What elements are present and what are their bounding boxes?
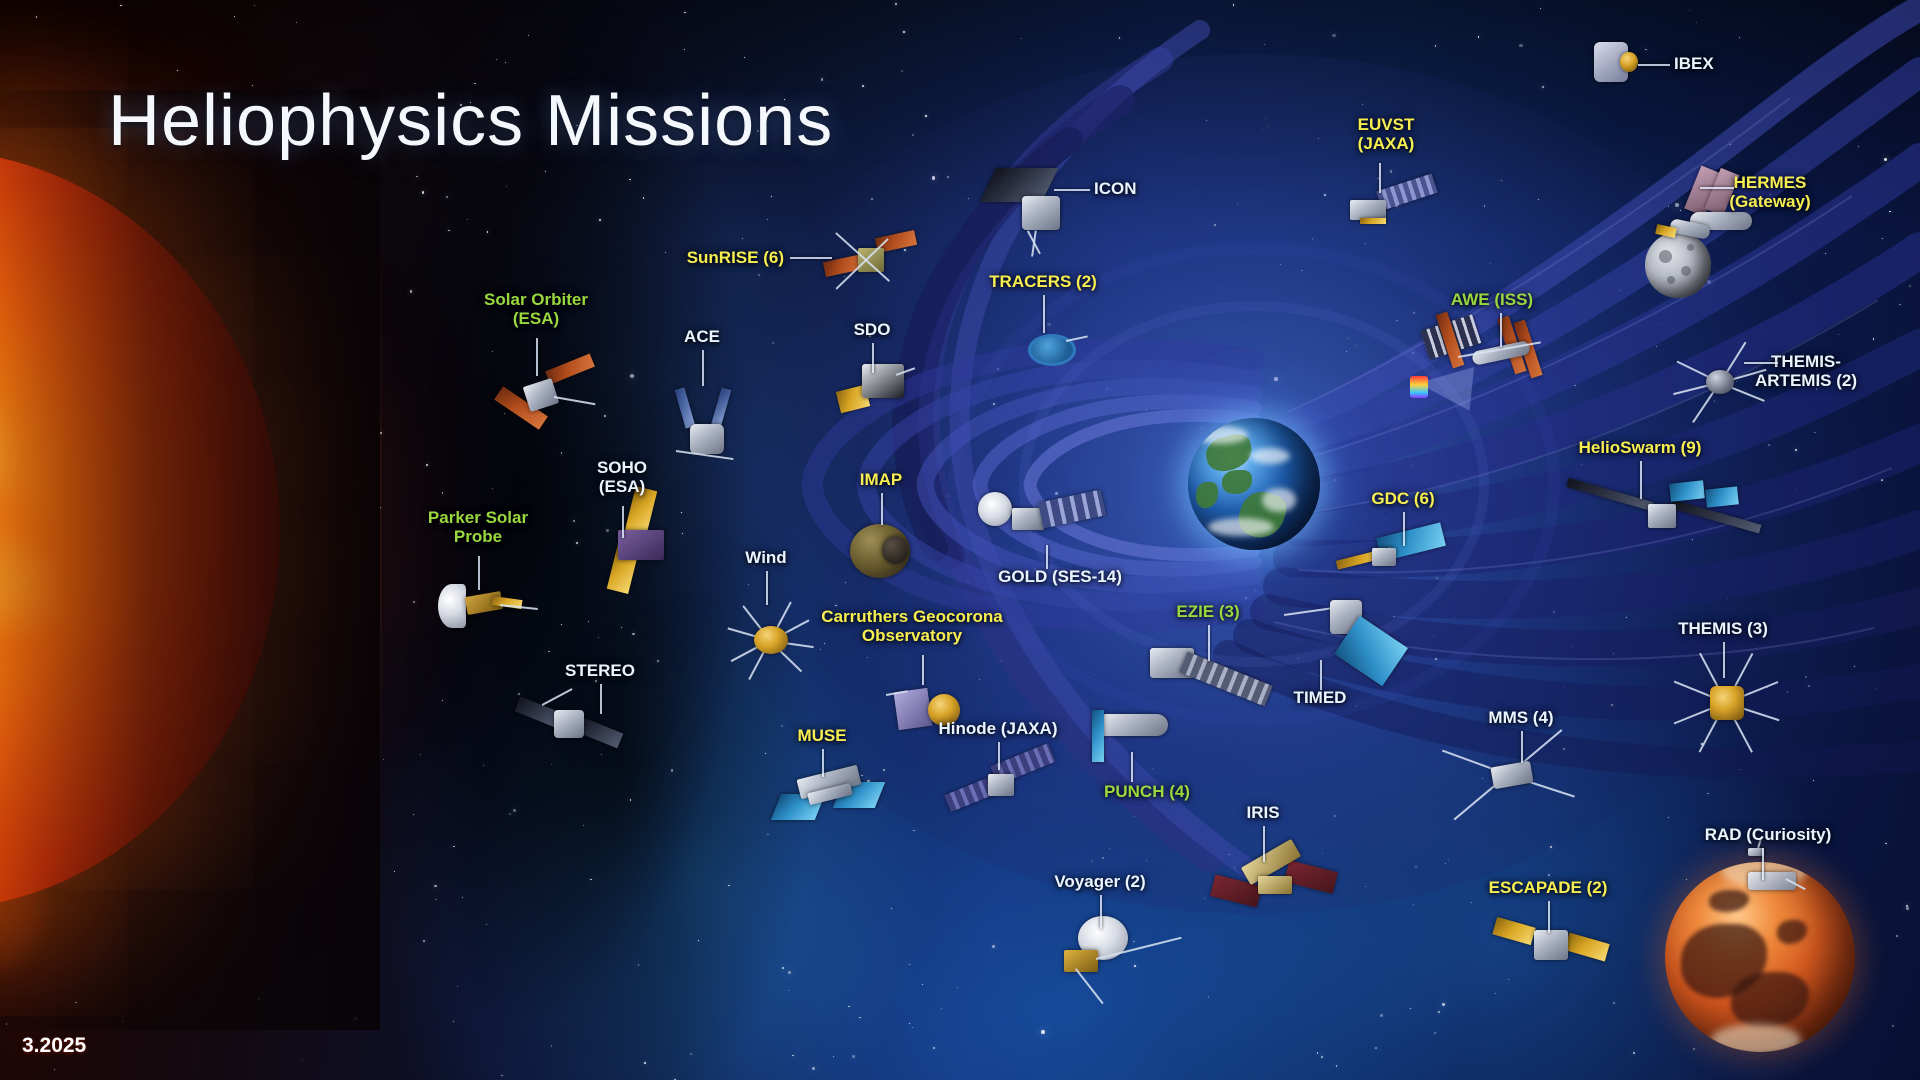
star xyxy=(1729,144,1731,146)
earth-cloud xyxy=(1250,448,1290,464)
star xyxy=(921,542,922,543)
star xyxy=(621,627,622,628)
mission-label-gdc: GDC (6) xyxy=(1371,489,1434,508)
mission-label-gold: GOLD (SES-14) xyxy=(998,567,1122,586)
star xyxy=(1656,346,1657,347)
star xyxy=(1689,10,1690,11)
star xyxy=(833,1056,834,1057)
mission-label-ace: ACE xyxy=(684,327,720,346)
star xyxy=(681,512,682,513)
spacecraft-tracers xyxy=(1020,326,1088,370)
star xyxy=(788,971,791,974)
star xyxy=(903,31,905,33)
spacecraft-euvst xyxy=(1344,180,1438,232)
star xyxy=(1034,484,1035,485)
star xyxy=(434,885,437,888)
star xyxy=(1707,793,1709,795)
star xyxy=(1787,691,1789,693)
star xyxy=(1519,44,1523,48)
star xyxy=(122,1021,123,1022)
star xyxy=(1540,8,1541,9)
star xyxy=(413,814,414,815)
star xyxy=(782,967,784,969)
star xyxy=(1356,705,1358,707)
mission-label-themis-artemis: THEMIS- ARTEMIS (2) xyxy=(1755,352,1857,390)
star xyxy=(604,415,606,417)
star xyxy=(1548,874,1550,876)
star xyxy=(1620,290,1621,291)
star xyxy=(1380,1014,1383,1017)
star xyxy=(1413,312,1415,314)
star xyxy=(912,1027,913,1028)
star xyxy=(1362,104,1363,105)
earth xyxy=(1188,418,1320,550)
star xyxy=(632,633,635,636)
star xyxy=(1626,617,1627,618)
star xyxy=(1896,935,1898,937)
star xyxy=(467,219,468,220)
mission-label-mms: MMS (4) xyxy=(1488,708,1553,727)
star xyxy=(1214,224,1216,226)
star xyxy=(772,342,774,344)
star xyxy=(1885,843,1887,845)
star xyxy=(420,754,421,755)
mission-label-parker-solar-probe: Parker Solar Probe xyxy=(428,508,528,546)
leader-line-escapade xyxy=(1548,901,1550,933)
leader-line-themis-artemis xyxy=(1744,362,1778,364)
star xyxy=(1384,518,1386,520)
star xyxy=(354,1017,357,1020)
star xyxy=(1490,263,1492,265)
star xyxy=(788,990,789,991)
star xyxy=(1355,345,1357,347)
star xyxy=(1332,34,1336,38)
star xyxy=(1390,170,1393,173)
star xyxy=(630,799,632,801)
star xyxy=(909,1023,910,1024)
star xyxy=(422,191,425,194)
leader-line-tracers xyxy=(1043,295,1045,333)
star xyxy=(728,885,730,887)
star xyxy=(924,356,925,357)
spacecraft-escapade xyxy=(1494,910,1610,982)
leader-line-awe xyxy=(1500,313,1502,347)
star xyxy=(1435,658,1437,660)
star xyxy=(912,134,914,136)
leader-line-themis xyxy=(1723,642,1725,678)
mission-label-imap: IMAP xyxy=(860,470,903,489)
star xyxy=(758,274,760,276)
star xyxy=(416,176,418,178)
mission-label-punch: PUNCH (4) xyxy=(1104,782,1190,801)
star xyxy=(1739,769,1741,771)
star xyxy=(1415,866,1417,868)
star xyxy=(1795,489,1796,490)
star xyxy=(1317,1052,1319,1054)
star xyxy=(1838,334,1839,335)
star xyxy=(1727,598,1728,599)
moon-crater xyxy=(1667,276,1675,284)
star xyxy=(506,186,507,187)
star xyxy=(891,908,892,909)
star xyxy=(1336,1065,1338,1067)
earth-landmass xyxy=(1196,482,1218,508)
star xyxy=(1041,1030,1045,1034)
star xyxy=(1346,351,1347,352)
spacecraft-iris xyxy=(1212,842,1340,920)
star xyxy=(1265,118,1266,119)
star xyxy=(744,57,745,58)
spacecraft-wind xyxy=(726,596,814,684)
star xyxy=(1442,1003,1445,1006)
star xyxy=(486,924,487,925)
star xyxy=(1501,180,1503,182)
star xyxy=(690,1053,692,1055)
star xyxy=(767,834,768,835)
star xyxy=(595,680,597,682)
star xyxy=(1365,886,1367,888)
star xyxy=(1906,907,1910,911)
star xyxy=(997,368,998,369)
star xyxy=(657,660,659,662)
star xyxy=(1091,860,1093,862)
star xyxy=(895,3,897,5)
star xyxy=(1495,993,1496,994)
mission-label-iris: IRIS xyxy=(1246,803,1279,822)
star xyxy=(1858,146,1859,147)
star xyxy=(698,940,699,941)
spacecraft-soho xyxy=(596,488,680,592)
star xyxy=(36,16,37,17)
star xyxy=(1102,857,1104,859)
star xyxy=(1119,37,1120,38)
star xyxy=(792,1055,793,1056)
star xyxy=(1237,204,1238,205)
leader-line-sdo xyxy=(872,343,874,373)
star xyxy=(573,520,575,522)
star xyxy=(812,1067,816,1071)
star xyxy=(369,231,370,232)
star xyxy=(1204,898,1205,899)
star xyxy=(1668,817,1669,818)
star xyxy=(968,198,969,199)
star xyxy=(925,115,927,117)
star xyxy=(1899,304,1901,306)
star xyxy=(1264,44,1266,46)
star xyxy=(1613,1002,1615,1004)
leader-line-gdc xyxy=(1403,512,1405,546)
star xyxy=(1412,352,1414,354)
leader-line-hermes xyxy=(1700,187,1734,189)
earth-cloud xyxy=(1194,426,1248,444)
star xyxy=(1321,1056,1323,1058)
star xyxy=(448,230,450,232)
star xyxy=(1223,563,1224,564)
star xyxy=(947,176,949,178)
star xyxy=(1347,338,1348,339)
spacecraft-imap xyxy=(846,518,916,584)
star xyxy=(258,998,260,1000)
star xyxy=(1693,1048,1695,1050)
star xyxy=(1301,270,1303,272)
spacecraft-solar-orbiter xyxy=(492,352,602,438)
star xyxy=(742,238,743,239)
star xyxy=(1553,611,1555,613)
star xyxy=(629,179,631,181)
star xyxy=(234,16,235,17)
spacecraft-gold-ses14 xyxy=(978,486,1106,558)
star xyxy=(1805,676,1807,678)
star xyxy=(548,651,550,653)
star xyxy=(513,809,516,812)
mission-label-solar-orbiter: Solar Orbiter (ESA) xyxy=(484,290,588,328)
spacecraft-sunrise xyxy=(824,218,920,304)
star xyxy=(483,765,484,766)
mission-label-stereo: STEREO xyxy=(565,661,635,680)
star xyxy=(852,1055,855,1058)
star xyxy=(1884,158,1887,161)
star xyxy=(913,830,915,832)
star xyxy=(551,1045,553,1047)
star xyxy=(1413,904,1414,905)
star xyxy=(1542,86,1544,88)
star xyxy=(423,940,425,942)
spacecraft-parker-solar-probe xyxy=(438,572,542,642)
mission-label-rad: RAD (Curiosity) xyxy=(1705,825,1832,844)
mission-label-hermes: HERMES (Gateway) xyxy=(1729,173,1810,211)
star xyxy=(1613,653,1614,654)
star xyxy=(1177,380,1178,381)
star xyxy=(410,290,413,293)
star xyxy=(1658,324,1660,326)
mission-label-muse: MUSE xyxy=(797,726,846,745)
star xyxy=(967,580,969,582)
star xyxy=(922,984,923,985)
leader-line-ezie xyxy=(1208,625,1210,661)
star xyxy=(957,987,958,988)
star xyxy=(684,49,686,51)
star xyxy=(413,601,415,603)
star xyxy=(1538,199,1539,200)
star xyxy=(643,197,645,199)
star xyxy=(1445,863,1446,864)
star xyxy=(1274,377,1278,381)
mission-label-soho: SOHO (ESA) xyxy=(597,458,647,496)
star xyxy=(848,1006,849,1007)
star xyxy=(1410,1008,1411,1009)
leader-line-timed xyxy=(1320,660,1322,690)
mission-label-wind: Wind xyxy=(745,548,786,567)
leader-line-carruthers xyxy=(922,655,924,685)
star xyxy=(1233,4,1235,6)
leader-line-voyager xyxy=(1100,895,1102,929)
spacecraft-voyager xyxy=(1048,912,1184,996)
star xyxy=(496,59,497,60)
star xyxy=(1707,280,1711,284)
star xyxy=(435,899,437,901)
star xyxy=(1375,1047,1377,1049)
mission-label-helioswarm: HelioSwarm (9) xyxy=(1579,438,1702,457)
star xyxy=(1448,859,1449,860)
star xyxy=(867,657,869,659)
star xyxy=(771,196,772,197)
star xyxy=(1892,1025,1894,1027)
star xyxy=(993,403,995,405)
mission-label-icon: ICON xyxy=(1094,179,1137,198)
star xyxy=(638,964,639,965)
mission-label-awe: AWE (ISS) xyxy=(1451,290,1533,309)
star xyxy=(1808,685,1810,687)
star xyxy=(1435,45,1436,46)
star xyxy=(1245,597,1246,598)
star xyxy=(684,12,685,13)
star xyxy=(781,725,783,727)
star xyxy=(1334,479,1336,481)
star xyxy=(368,697,369,698)
star xyxy=(1000,660,1002,662)
page-title: Heliophysics Missions xyxy=(108,80,833,162)
star xyxy=(1312,238,1314,240)
star xyxy=(457,986,458,987)
star xyxy=(505,62,506,63)
leader-line-ace xyxy=(702,350,704,386)
star xyxy=(765,753,766,754)
leader-line-sunrise xyxy=(790,257,832,259)
star xyxy=(528,35,529,36)
star xyxy=(1563,686,1564,687)
leader-line-euvst xyxy=(1379,163,1381,193)
star xyxy=(1134,816,1135,817)
star xyxy=(1146,409,1147,410)
mars-albedo-feature xyxy=(1777,920,1807,944)
star xyxy=(1813,780,1814,781)
mission-label-hinode: Hinode (JAXA) xyxy=(939,719,1058,738)
star xyxy=(1318,138,1319,139)
star xyxy=(630,374,634,378)
earth-cloud xyxy=(1262,488,1296,512)
star xyxy=(932,176,935,179)
star xyxy=(296,22,297,23)
mission-label-sdo: SDO xyxy=(854,320,891,339)
spacecraft-stereo xyxy=(516,688,626,762)
star xyxy=(1434,1032,1436,1034)
star xyxy=(1433,635,1434,636)
star xyxy=(492,488,493,489)
star xyxy=(1454,617,1456,619)
star xyxy=(1412,465,1413,466)
star xyxy=(380,432,382,434)
heliophysics-missions-poster: Heliophysics Missions 3.2025 Solar Orbit… xyxy=(0,0,1920,1080)
star xyxy=(302,1059,303,1060)
star xyxy=(1825,253,1826,254)
star xyxy=(1268,126,1269,127)
star xyxy=(871,198,873,200)
star xyxy=(576,542,578,544)
spacecraft-timed xyxy=(1276,592,1398,690)
star xyxy=(1471,902,1472,903)
mission-label-tracers: TRACERS (2) xyxy=(989,272,1097,291)
date-stamp: 3.2025 xyxy=(22,1034,86,1058)
star xyxy=(1814,432,1816,434)
star xyxy=(1365,243,1366,244)
star xyxy=(1581,464,1582,465)
star xyxy=(1876,688,1877,689)
star xyxy=(177,70,178,71)
star xyxy=(1739,37,1740,38)
leader-line-gold xyxy=(1046,545,1048,569)
star xyxy=(1109,848,1110,849)
leader-line-iris xyxy=(1263,826,1265,862)
spacecraft-helioswarm xyxy=(1566,478,1766,554)
star xyxy=(1280,264,1281,265)
star xyxy=(1873,338,1875,340)
star xyxy=(1478,36,1480,38)
star xyxy=(599,219,601,221)
star xyxy=(1572,646,1573,647)
star xyxy=(394,871,395,872)
leader-line-hinode xyxy=(998,742,1000,770)
leader-line-parker-solar-probe xyxy=(478,556,480,590)
star xyxy=(54,1069,56,1071)
star xyxy=(442,492,444,494)
star xyxy=(748,584,749,585)
star xyxy=(590,879,592,881)
sun xyxy=(0,150,340,970)
star xyxy=(1206,120,1207,121)
mars-albedo-feature xyxy=(1731,972,1809,1028)
spacecraft-ace xyxy=(668,388,746,474)
earth-cloud xyxy=(1208,518,1274,536)
mission-label-euvst: EUVST (JAXA) xyxy=(1358,115,1415,153)
mission-label-sunrise: SunRISE (6) xyxy=(687,248,784,267)
star xyxy=(992,945,995,948)
star xyxy=(487,231,488,232)
mission-label-themis: THEMIS (3) xyxy=(1678,619,1768,638)
spacecraft-punch xyxy=(1086,706,1172,772)
star xyxy=(561,624,562,625)
star xyxy=(509,813,511,815)
star xyxy=(941,1008,942,1009)
star xyxy=(545,171,546,172)
star xyxy=(1255,589,1257,591)
star xyxy=(1795,449,1797,451)
leader-line-soho xyxy=(622,506,624,538)
mars-polar-cap xyxy=(1711,1024,1801,1052)
star xyxy=(598,637,599,638)
star xyxy=(1889,211,1891,213)
star xyxy=(1322,551,1323,552)
star xyxy=(1094,674,1095,675)
leader-line-wind xyxy=(766,571,768,605)
star xyxy=(588,621,589,622)
star xyxy=(1262,129,1263,130)
star xyxy=(1633,1052,1635,1054)
star xyxy=(442,700,443,701)
leader-line-rad xyxy=(1762,848,1764,880)
leader-line-imap xyxy=(881,493,883,525)
spacecraft-themis xyxy=(1672,648,1784,760)
star xyxy=(462,897,463,898)
star xyxy=(426,464,428,466)
star xyxy=(859,1017,861,1019)
star xyxy=(120,5,121,6)
star xyxy=(6,1023,8,1025)
rover-curiosity xyxy=(1730,848,1812,904)
mission-label-carruthers: Carruthers Geocorona Observatory xyxy=(821,607,1002,645)
star xyxy=(959,395,960,396)
leader-line-muse xyxy=(822,749,824,777)
leader-line-ibex xyxy=(1638,64,1670,66)
